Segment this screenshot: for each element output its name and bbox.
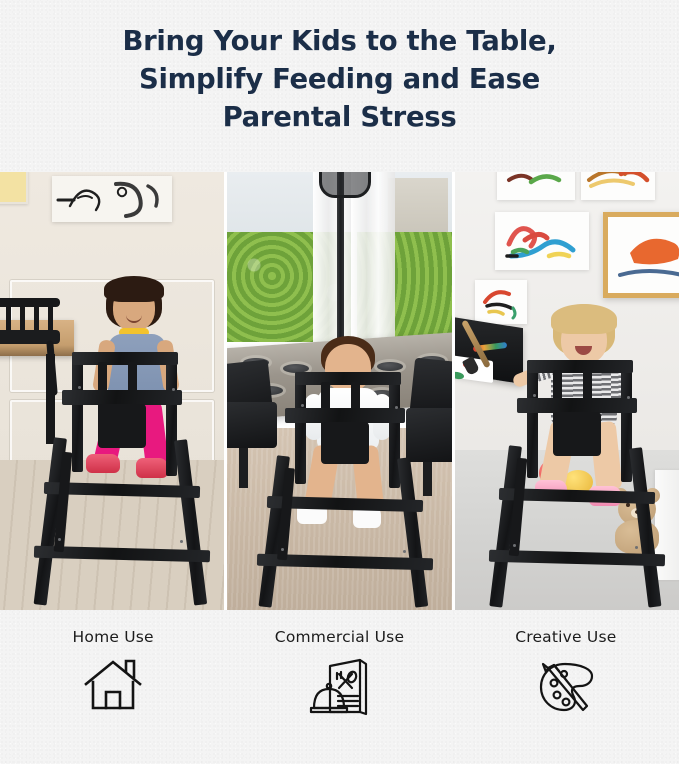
wall-art-abstract xyxy=(497,172,575,200)
wall-art-yellow-frame xyxy=(0,172,28,204)
feature-label-creative: Creative Use xyxy=(515,628,616,646)
restaurant-menu-cloche-icon xyxy=(308,656,370,718)
feature-creative-use: Creative Use xyxy=(453,628,679,764)
product-feature-banner: Bring Your Kids to the Table, Simplify F… xyxy=(0,0,679,764)
background-building xyxy=(388,178,448,234)
wall-art-abstract xyxy=(581,172,655,200)
high-chair-home xyxy=(24,352,224,608)
high-chair-creative xyxy=(479,360,679,610)
headline-line-2: Simplify Feeding and Ease xyxy=(0,60,679,98)
wall-art-abstract-small xyxy=(475,280,527,324)
orange-brush-stroke-icon xyxy=(608,217,679,293)
photo-creative-use xyxy=(455,172,679,610)
headline-line-3: Parental Stress xyxy=(0,98,679,136)
paint-palette-brush-icon xyxy=(535,656,597,718)
brush-stroke-art-icon xyxy=(495,212,589,270)
wall-art-abstract-large xyxy=(495,212,589,270)
brush-stroke-art-icon xyxy=(475,280,527,324)
page-title: Bring Your Kids to the Table, Simplify F… xyxy=(0,22,679,136)
brush-stroke-art-icon xyxy=(581,172,655,200)
wall-art-framed xyxy=(603,212,679,298)
feature-home-use: Home Use xyxy=(0,628,226,764)
photo-home-use xyxy=(0,172,224,610)
use-case-feature-row: Home Use Commercial Use xyxy=(0,628,679,764)
headline-line-1: Bring Your Kids to the Table, xyxy=(0,22,679,60)
feature-label-commercial: Commercial Use xyxy=(275,628,404,646)
feature-label-home: Home Use xyxy=(73,628,154,646)
brush-stroke-art-icon xyxy=(497,172,575,200)
photo-commercial-use xyxy=(227,172,451,610)
patio-curtain xyxy=(351,172,395,362)
house-icon xyxy=(82,656,144,718)
high-chair-commercial xyxy=(249,372,449,610)
wall-art-line-drawing xyxy=(52,176,172,222)
feature-commercial-use: Commercial Use xyxy=(226,628,452,764)
pendant-lamp xyxy=(319,172,371,198)
line-art-figures-icon xyxy=(52,176,172,222)
lifestyle-photo-strip xyxy=(0,172,679,610)
